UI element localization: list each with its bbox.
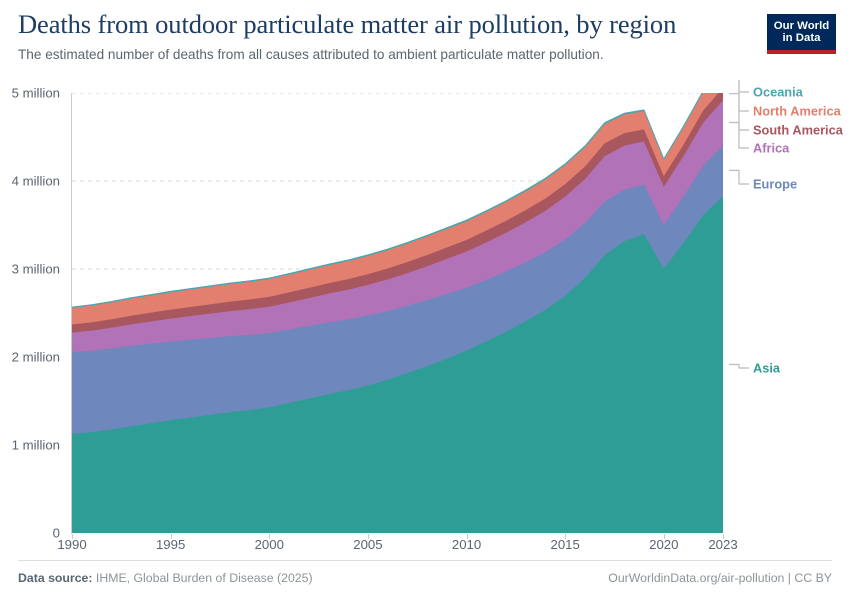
chart-legend: OceaniaNorth AmericaSouth AmericaAfricaE… [727, 80, 850, 400]
legend-item-oceania[interactable]: Oceania [753, 85, 803, 100]
owid-logo-line1: Our World [774, 20, 829, 32]
x-axis-tick-label: 2020 [649, 537, 678, 552]
legend-connector [729, 365, 749, 369]
x-axis-tick-label: 2000 [255, 537, 284, 552]
legend-connector [729, 123, 749, 149]
x-axis-tick-label: 2010 [452, 537, 481, 552]
y-axis-labels: 01 million2 million3 million4 million5 m… [0, 0, 68, 600]
y-axis-tick-label: 1 million [12, 438, 60, 453]
chart-header: Deaths from outdoor particulate matter a… [18, 10, 758, 64]
x-axis-tick-label: 1990 [57, 537, 86, 552]
x-axis-tick-label: 2005 [353, 537, 382, 552]
data-source-label: Data source: [18, 571, 93, 585]
plot-area [72, 93, 723, 533]
y-axis-tick-label: 5 million [12, 86, 60, 101]
stacked-area-chart [72, 93, 723, 533]
x-axis-tick-label: 1995 [156, 537, 185, 552]
x-axis-tick-label: 2015 [551, 537, 580, 552]
legend-item-south-america[interactable]: South America [753, 123, 843, 138]
y-axis-tick-label: 4 million [12, 174, 60, 189]
legend-item-europe[interactable]: Europe [753, 177, 797, 192]
data-source: Data source: IHME, Global Burden of Dise… [18, 571, 313, 585]
x-axis-tick-label: 2023 [708, 537, 737, 552]
legend-item-asia[interactable]: Asia [753, 361, 780, 376]
attribution-link[interactable]: OurWorldinData.org/air-pollution | CC BY [608, 571, 832, 585]
legend-item-north-america[interactable]: North America [753, 104, 841, 119]
x-axis-labels: 19901995200020052010201520202023 [0, 537, 850, 561]
page-title: Deaths from outdoor particulate matter a… [18, 10, 758, 40]
owid-logo-line2: in Data [783, 32, 821, 44]
data-source-text: IHME, Global Burden of Disease (2025) [93, 571, 313, 585]
owid-logo[interactable]: Our World in Data [767, 14, 836, 54]
footer-divider [18, 560, 832, 561]
y-axis-tick-label: 2 million [12, 350, 60, 365]
y-axis-tick-label: 3 million [12, 262, 60, 277]
chart-container: Deaths from outdoor particulate matter a… [0, 0, 850, 600]
legend-item-africa[interactable]: Africa [753, 141, 789, 156]
legend-connector [729, 170, 749, 184]
chart-subtitle: The estimated number of deaths from all … [18, 47, 758, 64]
